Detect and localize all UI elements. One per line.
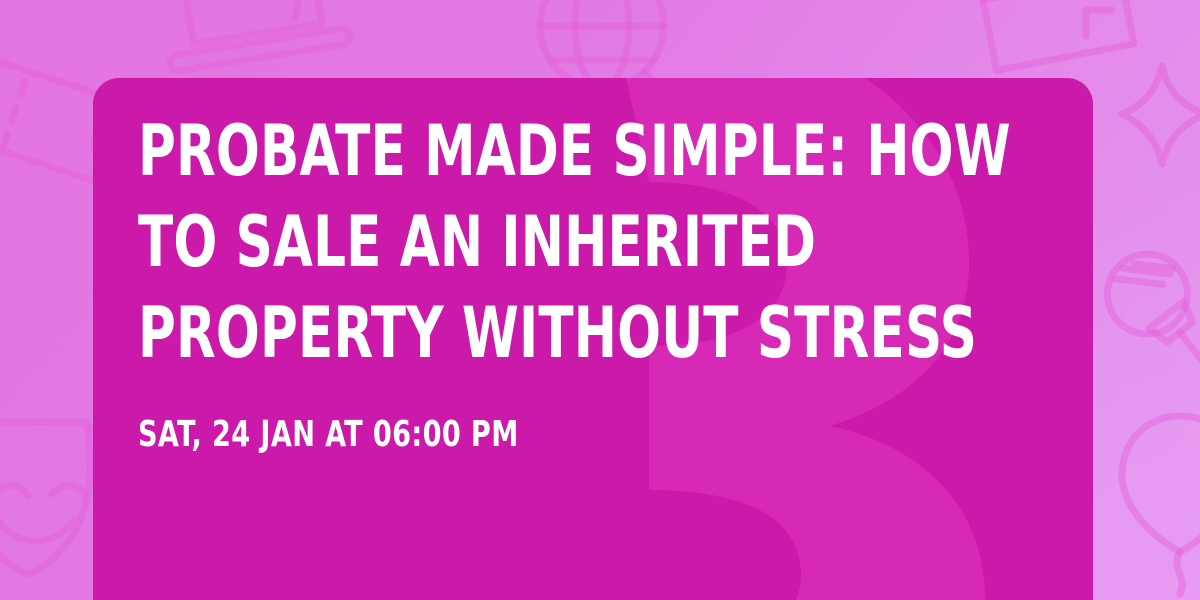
event-banner: Probate Made Simple: How To Sale An Inhe… — [0, 0, 1200, 600]
calendar-icon — [960, 0, 1150, 74]
card-content: Probate Made Simple: How To Sale An Inhe… — [138, 106, 1053, 455]
event-date: Sat, 24 Jan at 06:00 PM — [138, 415, 907, 455]
balloon-icon — [1118, 392, 1200, 600]
microphone-icon — [1110, 228, 1200, 398]
sparkle-icon — [1118, 52, 1200, 172]
event-title: Probate Made Simple: How To Sale An Inhe… — [138, 106, 1040, 379]
sparkle-icon — [1072, 0, 1142, 68]
event-card[interactable]: Probate Made Simple: How To Sale An Inhe… — [93, 78, 1093, 600]
